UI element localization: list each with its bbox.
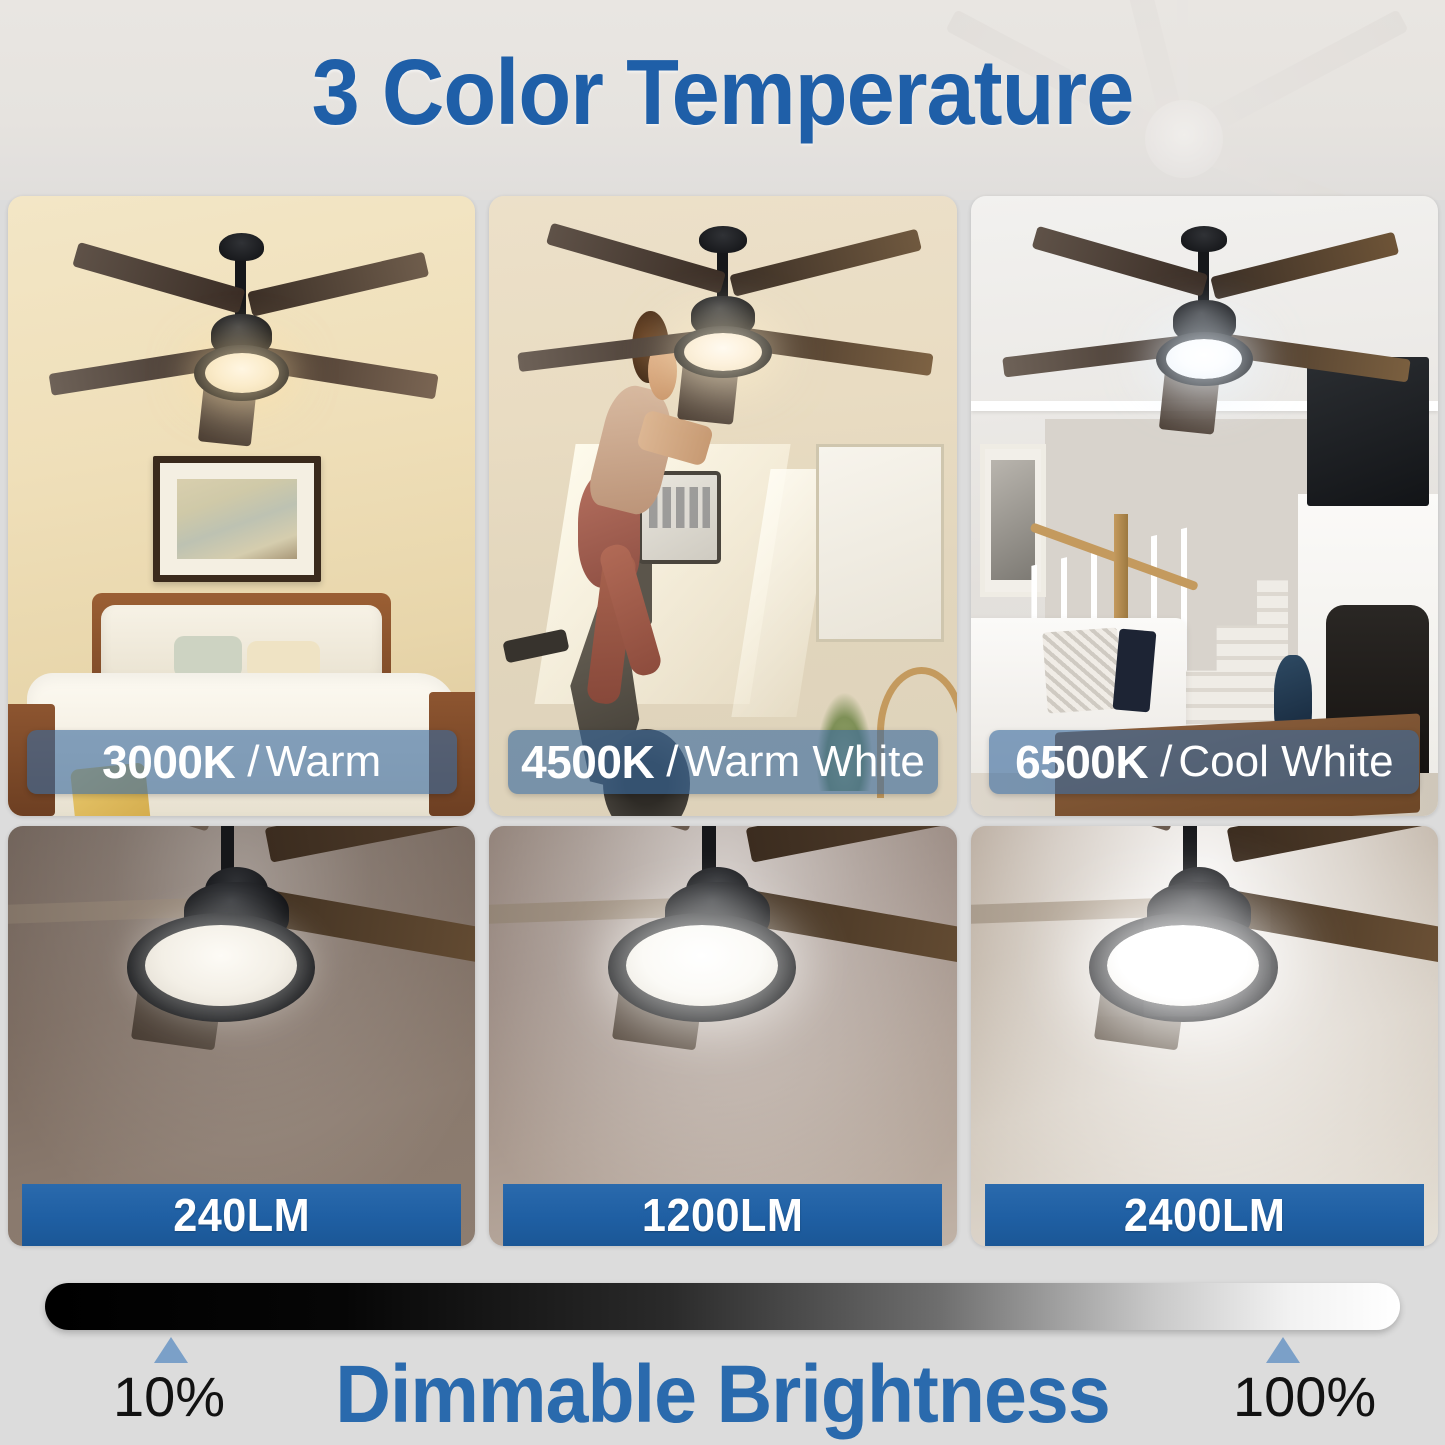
fan-blade bbox=[746, 890, 957, 971]
fan-light-lens bbox=[205, 353, 279, 393]
fan-blade bbox=[489, 826, 695, 832]
fan-light-ring bbox=[127, 913, 315, 1021]
temperature-panel-6500k[interactable]: 6500K / Cool White bbox=[971, 196, 1438, 816]
fan-motor-housing bbox=[184, 882, 289, 944]
fan-downrod bbox=[702, 826, 716, 882]
fan-canopy bbox=[1181, 226, 1227, 252]
fan-downrod bbox=[1198, 240, 1209, 308]
lumen-label-2400: 2400LM bbox=[985, 1184, 1424, 1246]
patterned-pillow bbox=[1043, 627, 1123, 713]
navy-pillow bbox=[1112, 629, 1156, 713]
caption-6500k: 6500K / Cool White bbox=[989, 730, 1419, 794]
framed-artwork bbox=[153, 456, 321, 582]
fan-blade bbox=[72, 242, 245, 313]
fan-blade bbox=[746, 826, 957, 863]
page-title: 3 Color Temperature bbox=[51, 46, 1395, 139]
wall-mounted-tv bbox=[1307, 357, 1429, 506]
fan-blade bbox=[1227, 826, 1438, 863]
temperature-name: Cool White bbox=[1178, 737, 1393, 787]
dimmable-brightness-title: Dimmable Brightness bbox=[43, 1348, 1401, 1442]
fan-blade bbox=[546, 223, 726, 294]
light-glow bbox=[489, 826, 956, 1246]
fan-blade bbox=[971, 826, 1177, 832]
fan-blade bbox=[265, 890, 476, 971]
person-riding-bike bbox=[545, 320, 751, 766]
lumen-panel-1200[interactable]: 1200LM bbox=[489, 826, 956, 1246]
kelvin-value: 4500K bbox=[521, 735, 654, 789]
ceiling-fan-closeup bbox=[489, 826, 956, 1145]
kelvin-value: 3000K bbox=[102, 735, 235, 789]
fan-light-ring bbox=[194, 345, 289, 401]
fan-blade bbox=[1094, 947, 1190, 1050]
fan-blade bbox=[1210, 232, 1399, 300]
fan-blade bbox=[730, 327, 933, 377]
fan-light-lens bbox=[145, 925, 297, 1006]
lumen-panel-2400[interactable]: 2400LM bbox=[971, 826, 1438, 1246]
fan-blade bbox=[1227, 890, 1438, 971]
fan-light-lens bbox=[1107, 925, 1259, 1006]
temperature-name: Warm White bbox=[684, 737, 924, 787]
fan-light-lens bbox=[1166, 339, 1242, 379]
fan-blade bbox=[8, 826, 214, 832]
rider-head bbox=[648, 342, 677, 400]
caption-4500k: 4500K / Warm White bbox=[508, 730, 938, 794]
caption-3000k: 3000K / Warm bbox=[27, 730, 457, 794]
wall-mirror bbox=[816, 444, 944, 642]
fan-motor-housing bbox=[665, 882, 770, 944]
caption-separator: / bbox=[666, 737, 678, 787]
fan-motor-housing bbox=[1147, 882, 1252, 944]
temperature-name: Warm bbox=[265, 737, 381, 787]
infographic-canvas: 3 Color Temperature bbox=[0, 0, 1445, 1445]
caption-separator: / bbox=[1160, 737, 1172, 787]
fan-blade bbox=[8, 898, 200, 926]
lumen-row: 240LM 1200LM bbox=[8, 826, 1438, 1246]
fan-downrod bbox=[717, 239, 728, 310]
panel-grid: 3000K / Warm bbox=[8, 196, 1438, 1246]
fan-blade bbox=[489, 898, 681, 926]
ceiling-fan-closeup bbox=[8, 826, 475, 1145]
lumen-label-240: 240LM bbox=[22, 1184, 461, 1246]
fan-motor-top bbox=[1168, 867, 1231, 913]
lumen-label-1200: 1200LM bbox=[503, 1184, 942, 1246]
fan-blade bbox=[1003, 334, 1197, 377]
fan-blade bbox=[265, 826, 476, 863]
fan-blade bbox=[971, 898, 1163, 926]
light-glow bbox=[8, 826, 475, 1246]
color-temperature-row: 3000K / Warm bbox=[8, 196, 1438, 816]
fan-blade bbox=[131, 947, 227, 1050]
caption-separator: / bbox=[247, 737, 259, 787]
fan-blade bbox=[612, 947, 708, 1050]
ceiling-fan-closeup bbox=[971, 826, 1438, 1145]
fan-blade bbox=[197, 379, 257, 446]
light-glow bbox=[971, 826, 1438, 1246]
fan-light-lens bbox=[626, 925, 778, 1006]
fan-canopy bbox=[699, 226, 746, 253]
lumen-panel-240[interactable]: 240LM bbox=[8, 826, 475, 1246]
fan-downrod bbox=[235, 249, 246, 327]
fan-motor-housing bbox=[211, 314, 273, 357]
fan-blade bbox=[1031, 226, 1207, 297]
fan-light-ring bbox=[608, 913, 796, 1021]
kelvin-value: 6500K bbox=[1015, 735, 1148, 789]
fan-motor-top bbox=[205, 867, 268, 913]
temperature-panel-3000k[interactable]: 3000K / Warm bbox=[8, 196, 475, 816]
fan-motor-top bbox=[686, 867, 749, 913]
fan-blade bbox=[247, 252, 429, 317]
fan-motor-housing bbox=[1173, 300, 1236, 343]
temperature-panel-4500k[interactable]: 4500K / Warm White bbox=[489, 196, 956, 816]
fan-blade bbox=[248, 345, 439, 399]
brightness-gradient-bar[interactable] bbox=[45, 1283, 1400, 1330]
fan-light-ring bbox=[1156, 332, 1253, 386]
fan-blade bbox=[49, 345, 235, 395]
fan-downrod bbox=[221, 826, 235, 882]
fan-light-ring bbox=[1089, 913, 1277, 1021]
fan-blade bbox=[729, 228, 922, 296]
fan-canopy bbox=[219, 233, 264, 261]
fan-downrod bbox=[1183, 826, 1197, 882]
